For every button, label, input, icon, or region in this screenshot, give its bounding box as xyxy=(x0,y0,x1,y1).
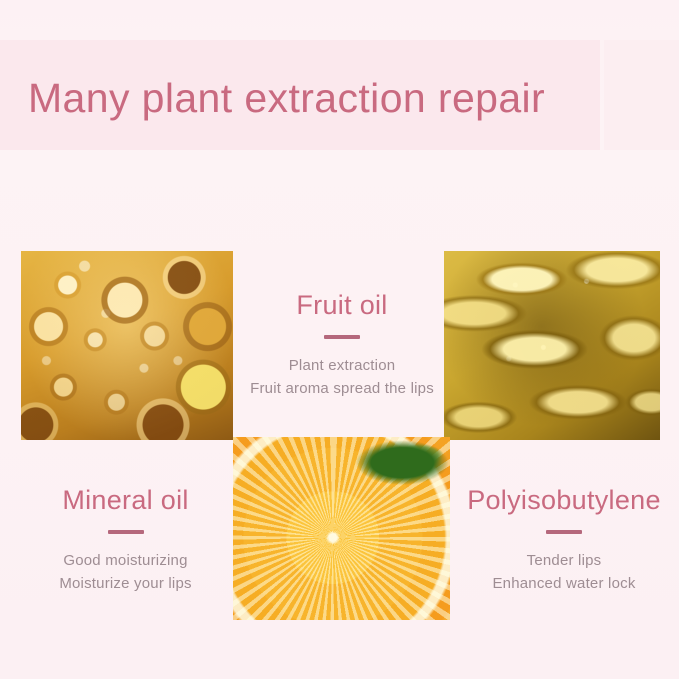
feature-desc-line: Plant extraction xyxy=(240,354,444,377)
feature-title: Mineral oil xyxy=(18,483,233,517)
oil-bubbles-photo xyxy=(21,251,233,440)
feature-mineral-oil: Mineral oil Good moisturizing Moisturize… xyxy=(18,483,233,595)
feature-desc-line: Enhanced water lock xyxy=(452,572,676,595)
feature-polyisobutylene: Polyisobutylene Tender lips Enhanced wat… xyxy=(452,483,676,595)
feature-fruit-oil: Fruit oil Plant extraction Fruit aroma s… xyxy=(240,288,444,400)
page-title: Many plant extraction repair xyxy=(28,72,648,124)
feature-title: Fruit oil xyxy=(240,288,444,322)
feature-desc-line: Good moisturizing xyxy=(18,549,233,572)
feature-divider-rule xyxy=(108,530,144,534)
feature-desc-line: Moisturize your lips xyxy=(18,572,233,595)
softgel-capsules-photo xyxy=(444,251,660,440)
feature-desc-line: Tender lips xyxy=(452,549,676,572)
feature-desc-line: Fruit aroma spread the lips xyxy=(240,377,444,400)
feature-divider-rule xyxy=(546,530,582,534)
orange-slice-photo xyxy=(233,437,450,620)
feature-divider-rule xyxy=(324,335,360,339)
feature-title: Polyisobutylene xyxy=(452,483,676,517)
product-feature-poster: Many plant extraction repair Fruit oil P… xyxy=(0,0,679,679)
